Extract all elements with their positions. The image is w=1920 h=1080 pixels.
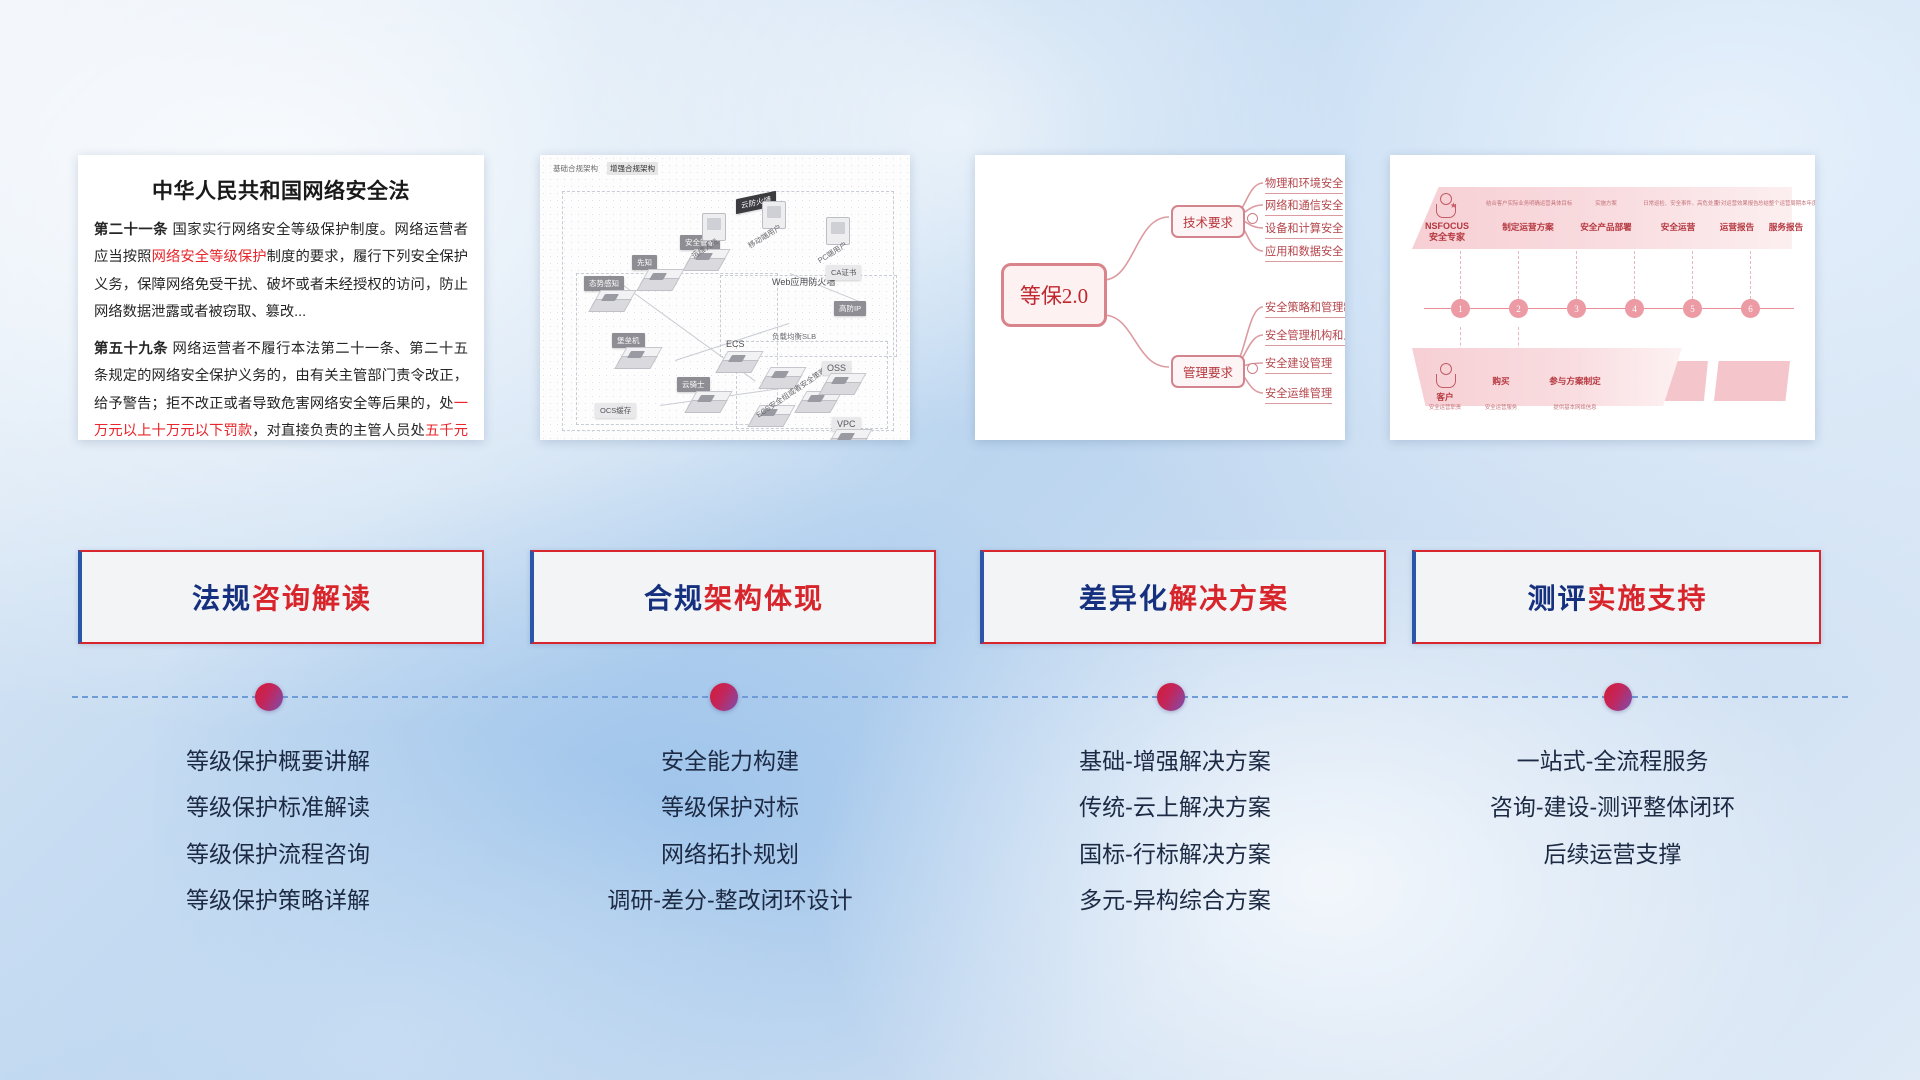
arch-node-ocs-cache[interactable]: OCS缓存 xyxy=(595,403,636,418)
ns-axis-mark-4[interactable]: 4 xyxy=(1625,299,1644,318)
banner-2-blue: 合规 xyxy=(644,577,704,617)
arch-node-anti-ddos-ip[interactable]: 高防IP xyxy=(834,301,866,316)
timeline-dot-3[interactable] xyxy=(1157,683,1185,711)
ns-bottom-role: 客户 xyxy=(1422,391,1468,403)
list-item: 等级保护概要讲解 xyxy=(78,738,478,784)
architecture-tabs[interactable]: 基础合规架构 增强合规架构 xyxy=(550,162,658,175)
banner-1-blue: 法规 xyxy=(192,577,252,617)
slide-stage: 中华人民共和国网络安全法 第二十一条 国家实行网络安全等级保护制度。网络运营者应… xyxy=(0,0,1920,1080)
mindmap-branch-management[interactable]: 管理要求 xyxy=(1171,355,1245,388)
banner-differentiated-solution[interactable]: 差异化解决方案 xyxy=(980,550,1386,644)
mindmap-branch-technical[interactable]: 技术要求 xyxy=(1171,205,1245,238)
list-item: 安全能力构建 xyxy=(520,738,940,784)
law-article-59-seg-2: ，对直接负责的主管人员处 xyxy=(252,423,425,439)
mindmap-leaf-mgmt-2: 安全建设管理 xyxy=(1265,355,1332,374)
column-evaluation-support: 一站式-全流程服务 咨询-建设-测评整体闭环 后续运营支撑 xyxy=(1400,738,1825,877)
card-nsfocus-process: ★ NSFOCUS 安全专家 结合客户实际业务明确运营具体目标 制定运营方案 实… xyxy=(1390,155,1815,440)
mindmap-leaf-tech-3: 应用和数据安全 xyxy=(1265,243,1343,262)
column-regulation-consulting: 等级保护概要讲解 等级保护标准解读 等级保护流程咨询 等级保护策略详解 xyxy=(78,738,478,924)
mindmap-leaf-tech-2: 设备和计算安全 xyxy=(1265,220,1343,239)
customer-icon xyxy=(1434,363,1456,389)
ns-lower-tag-right xyxy=(1714,361,1790,401)
arch-node-xianzhi[interactable]: 先知 xyxy=(632,255,657,270)
ns-axis-mark-1[interactable]: 1 xyxy=(1451,299,1470,318)
list-item: 多元-异构综合方案 xyxy=(965,877,1385,923)
mindmap-knob-technical[interactable] xyxy=(1247,213,1258,224)
timeline-dot-2[interactable] xyxy=(710,683,738,711)
law-card-title: 中华人民共和国网络安全法 xyxy=(94,175,468,205)
banner-4-blue: 测评 xyxy=(1527,577,1587,617)
card-mindmap-dengbao: 等保2.0 技术要求 物理和环境安全 网络和通信安全 设备和计算安全 应用和数据… xyxy=(975,155,1345,440)
banner-2-red: 架构体现 xyxy=(704,577,824,617)
card-cybersecurity-law: 中华人民共和国网络安全法 第二十一条 国家实行网络安全等级保护制度。网络运营者应… xyxy=(78,155,484,440)
ns-bottom-note-0: 安全运营服务 xyxy=(1470,403,1532,411)
banner-1-red: 咨询解读 xyxy=(252,577,372,617)
list-item: 国标-行标解决方案 xyxy=(965,831,1385,877)
law-article-21: 第二十一条 国家实行网络安全等级保护制度。网络运营者应当按照网络安全等级保护制度… xyxy=(94,217,468,327)
ns-bottom-title-0[interactable]: 购买 xyxy=(1476,375,1526,387)
list-item: 传统-云上解决方案 xyxy=(965,784,1385,830)
mindmap: 等保2.0 技术要求 物理和环境安全 网络和通信安全 设备和计算安全 应用和数据… xyxy=(975,155,1345,440)
ns-top-note-0: 结合客户实际业务明确运营具体目标 xyxy=(1486,199,1570,207)
expert-icon: ★ xyxy=(1434,193,1456,219)
ns-top-title-0[interactable]: 制定运营方案 xyxy=(1486,221,1570,233)
law-article-59: 第五十九条 网络运营者不履行本法第二十一条、第二十五条规定的网络安全保护义务的，… xyxy=(94,336,468,440)
ns-top-note-4: 总结整个运营周期本年度运营效果 xyxy=(1758,199,1814,207)
tab-basic-architecture[interactable]: 基础合规架构 xyxy=(550,162,601,175)
mindmap-leaf-mgmt-1: 安全管理机构和人员 xyxy=(1265,327,1345,346)
nsfocus-brand-line2: 安全专家 xyxy=(1429,232,1465,242)
card-compliance-architecture: 基础合规架构 增强合规架构 云防火墙 安全管家 先知 态势感知 堡垒机 云骑士 … xyxy=(540,155,910,440)
ns-top-title-1[interactable]: 安全产品部署 xyxy=(1570,221,1642,233)
arch-node-slb[interactable]: 负载均衡SLB xyxy=(772,331,816,342)
mindmap-root: 等保2.0 xyxy=(1001,263,1107,327)
banner-regulation-consulting[interactable]: 法规咨询解读 xyxy=(78,550,484,644)
arch-node-situation-awareness[interactable]: 态势感知 xyxy=(584,276,624,291)
arch-icon-pc-user xyxy=(826,217,850,245)
column-compliance-architecture: 安全能力构建 等级保护对标 网络拓扑规划 调研-差分-整改闭环设计 xyxy=(520,738,940,924)
arch-node-ca-cert[interactable]: CA证书 xyxy=(826,265,861,280)
law-article-59-number: 第五十九条 xyxy=(94,341,168,357)
list-item: 等级保护流程咨询 xyxy=(78,831,478,877)
ns-bottom-note-1: 提供基本网络信息 xyxy=(1534,403,1616,411)
list-item: 调研-差分-整改闭环设计 xyxy=(520,877,940,923)
banner-evaluation-support[interactable]: 测评实施支持 xyxy=(1412,550,1821,644)
nsfocus-axis xyxy=(1424,308,1794,309)
list-item: 基础-增强解决方案 xyxy=(965,738,1385,784)
column-differentiated-solution: 基础-增强解决方案 传统-云上解决方案 国标-行标解决方案 多元-异构综合方案 xyxy=(965,738,1385,924)
law-article-21-seg-1: 网络安全等级保护 xyxy=(152,249,267,265)
mindmap-leaf-tech-0: 物理和环境安全 xyxy=(1265,175,1343,194)
timeline-dashed-line xyxy=(72,696,1848,698)
timeline-dot-4[interactable] xyxy=(1604,683,1632,711)
ns-axis-mark-5[interactable]: 5 xyxy=(1683,299,1702,318)
arch-node-bastion-host[interactable]: 堡垒机 xyxy=(612,333,645,348)
ns-bottom-role-note: 安全运营职责 xyxy=(1416,403,1474,411)
ns-axis-mark-2[interactable]: 2 xyxy=(1509,299,1528,318)
nsfocus-brand-line1: NSFOCUS xyxy=(1425,221,1469,231)
banner-4-red: 实施支持 xyxy=(1588,577,1708,617)
ns-axis-mark-3[interactable]: 3 xyxy=(1567,299,1586,318)
ns-top-title-4[interactable]: 服务报告 xyxy=(1758,221,1814,233)
ns-axis-mark-6[interactable]: 6 xyxy=(1741,299,1760,318)
ns-top-note-1: 实施方案 xyxy=(1570,199,1642,207)
banner-compliance-architecture[interactable]: 合规架构体现 xyxy=(530,550,936,644)
timeline-dot-1[interactable] xyxy=(255,683,283,711)
mindmap-leaf-mgmt-3: 安全运维管理 xyxy=(1265,385,1332,404)
list-item: 网络拓扑规划 xyxy=(520,831,940,877)
law-article-21-number: 第二十一条 xyxy=(94,222,168,238)
mindmap-leaf-tech-1: 网络和通信安全 xyxy=(1265,197,1343,216)
ns-bottom-title-1[interactable]: 参与方案制定 xyxy=(1536,375,1614,387)
banner-3-red: 解决方案 xyxy=(1169,577,1289,617)
list-item: 等级保护对标 xyxy=(520,784,940,830)
tab-enhanced-architecture[interactable]: 增强合规架构 xyxy=(607,162,658,175)
nsfocus-process-diagram: ★ NSFOCUS 安全专家 结合客户实际业务明确运营具体目标 制定运营方案 实… xyxy=(1390,155,1815,440)
banner-3-blue: 差异化 xyxy=(1079,577,1169,617)
mindmap-leaf-mgmt-0: 安全策略和管理制度 xyxy=(1265,299,1345,318)
list-item: 后续运营支撑 xyxy=(1400,831,1825,877)
list-item: 等级保护标准解读 xyxy=(78,784,478,830)
mindmap-knob-management[interactable] xyxy=(1247,363,1258,374)
arch-node-ecs[interactable]: ECS xyxy=(726,339,745,349)
arch-node-cloud-knight[interactable]: 云骑士 xyxy=(677,377,710,392)
list-item: 等级保护策略详解 xyxy=(78,877,478,923)
nsfocus-brand: NSFOCUS 安全专家 xyxy=(1412,221,1482,244)
list-item: 咨询-建设-测评整体闭环 xyxy=(1400,784,1825,830)
list-item: 一站式-全流程服务 xyxy=(1400,738,1825,784)
ns-top-title-2[interactable]: 安全运营 xyxy=(1642,221,1714,233)
